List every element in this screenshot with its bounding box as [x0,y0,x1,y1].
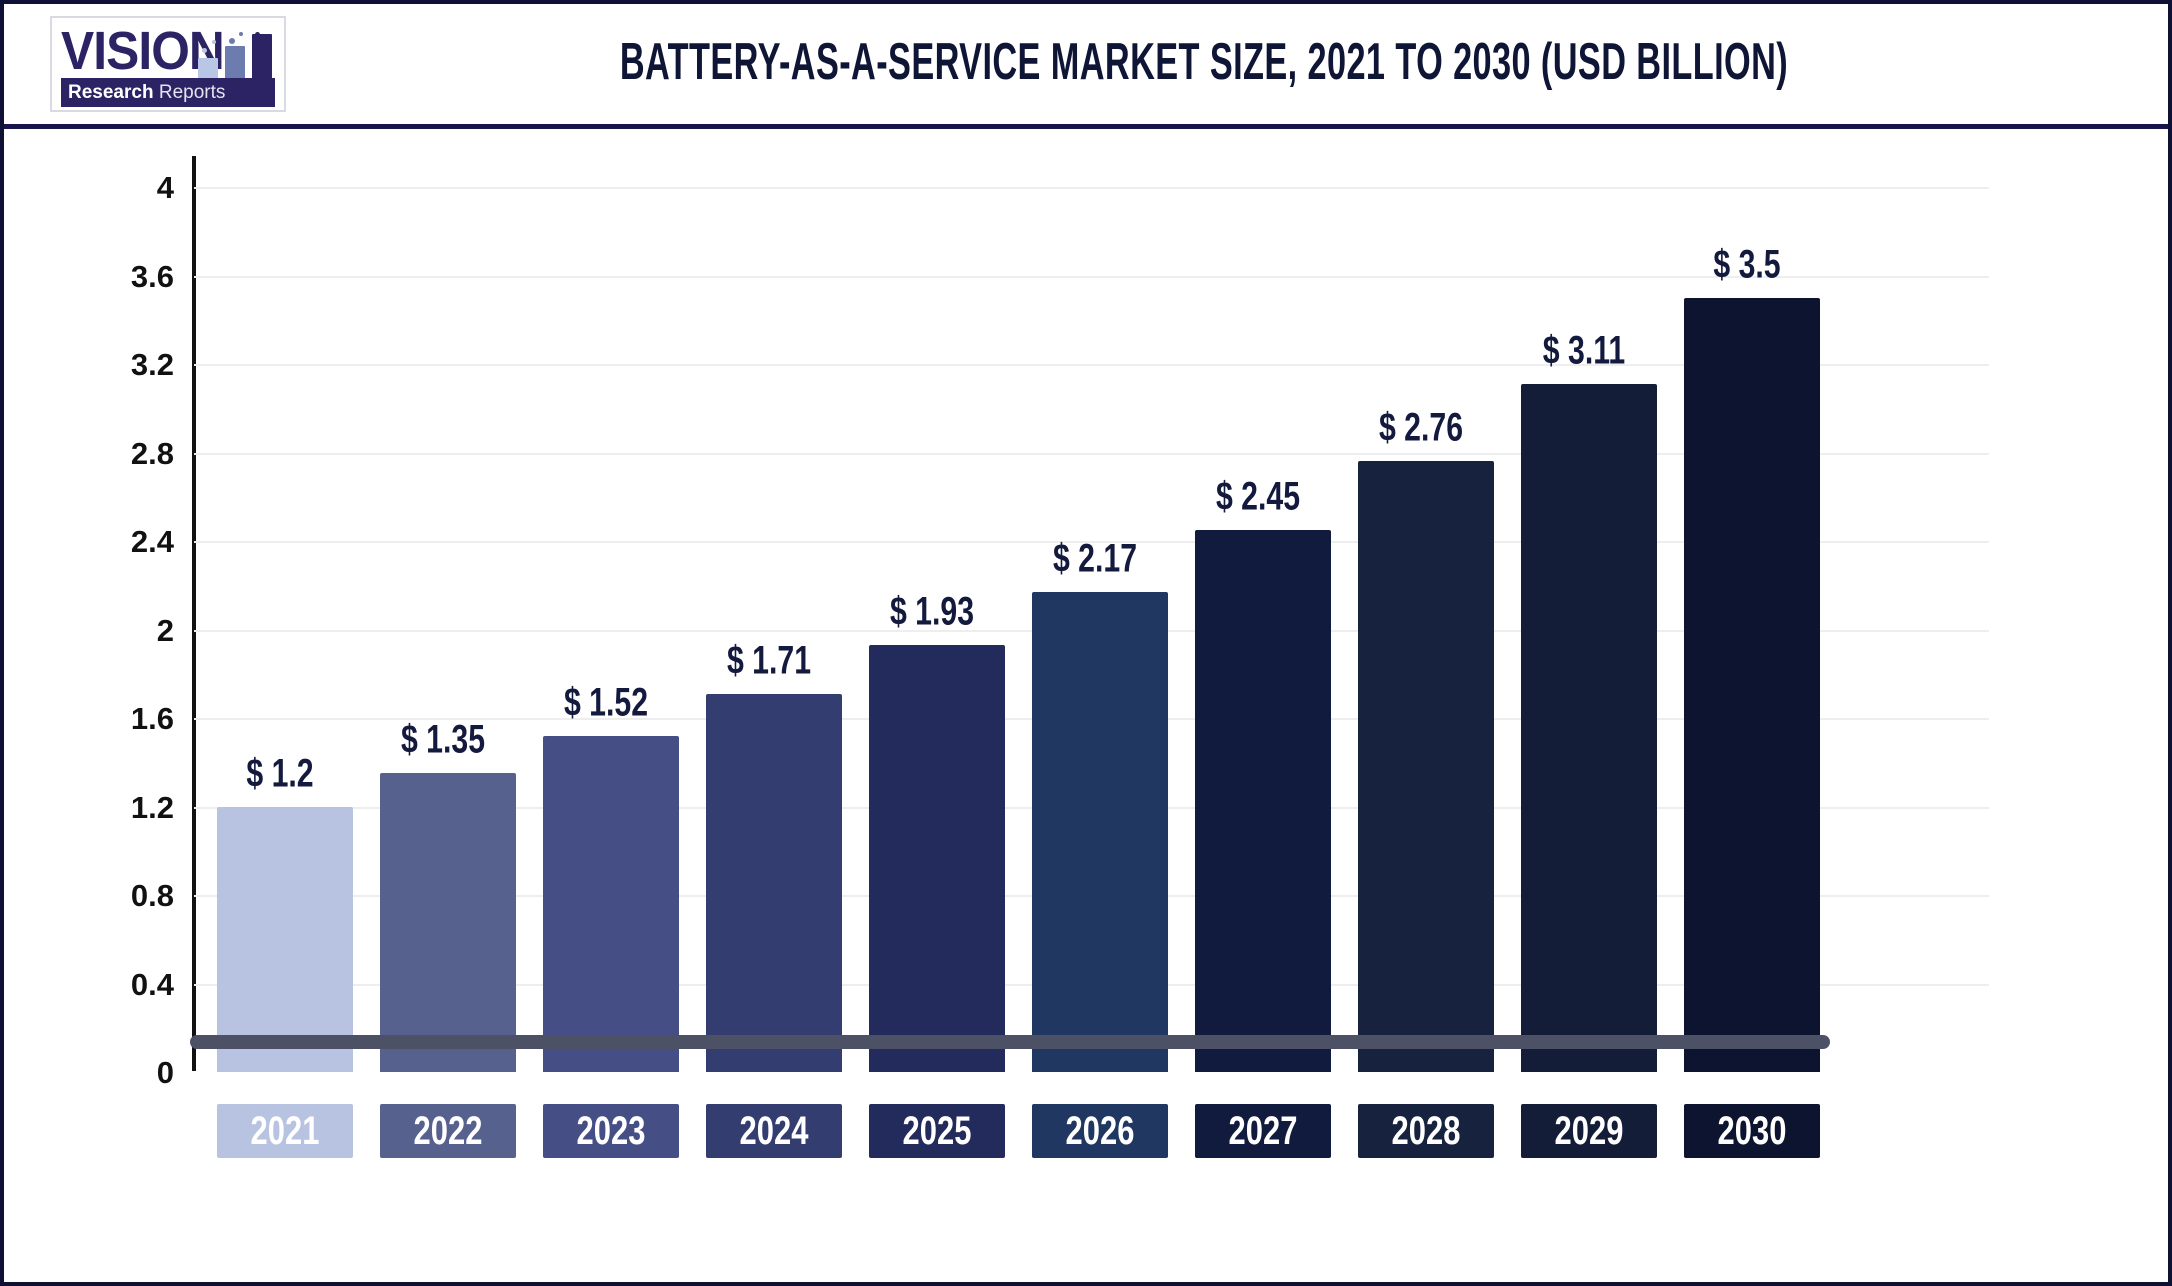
y-axis-tick-label: 0.8 [94,880,174,911]
logo-bars-icon [198,32,278,84]
y-axis-tick-label: 1.2 [94,792,174,823]
bar-slot: $ 2.45 [1190,159,1353,1072]
x-axis-category-label: 2025 [879,1101,996,1160]
x-axis-category-label: 2029 [1531,1101,1648,1160]
plot-area: $ 1.2$ 1.35$ 1.52$ 1.71$ 1.93$ 2.17$ 2.4… [194,159,1994,1072]
bar-value-label: $ 3.11 [1510,330,1658,370]
bar-value-label: $ 1.71 [695,640,843,680]
y-axis-tick-label: 3.6 [94,261,174,292]
x-axis-category-chip[interactable]: 2024 [706,1104,842,1158]
bar-value-label: $ 1.52 [532,682,680,722]
x-axis-category-label: 2027 [1205,1101,1322,1160]
y-axis-tick-label: 1.6 [94,703,174,734]
bar-slot: $ 1.52 [538,159,701,1072]
x-axis-category-chip[interactable]: 2023 [543,1104,679,1158]
bar[interactable] [1358,461,1494,1072]
x-axis-category-label: 2022 [390,1101,507,1160]
bar[interactable] [1195,530,1331,1072]
bar-value-label: $ 1.2 [206,753,354,793]
bar-series: $ 1.2$ 1.35$ 1.52$ 1.71$ 1.93$ 2.17$ 2.4… [194,159,1994,1072]
brand-logo: VISION Research Reports [50,16,286,112]
bar-slot: $ 1.35 [375,159,538,1072]
x-axis-category-chip[interactable]: 2029 [1521,1104,1657,1158]
x-axis-category-label: 2021 [227,1101,344,1160]
y-axis-tick-label: 4 [94,172,174,203]
logo-banner-bold: Research [68,82,154,103]
bar-value-label: $ 2.76 [1347,408,1495,448]
x-axis-category-chip[interactable]: 2025 [869,1104,1005,1158]
bar-value-label: $ 1.93 [858,591,1006,631]
x-axis-category-label: 2024 [716,1101,833,1160]
bar-slot: $ 3.11 [1516,159,1679,1072]
bar-value-label: $ 2.45 [1184,476,1332,516]
bar[interactable] [217,807,353,1073]
y-axis-tick-label: 0 [94,1057,174,1088]
bar-slot: $ 2.17 [1027,159,1190,1072]
bar[interactable] [1032,592,1168,1072]
y-axis-tick-label: 2.8 [94,438,174,469]
bar-slot: $ 1.93 [864,159,1027,1072]
bar-slot: $ 2.76 [1353,159,1516,1072]
x-axis-baseline [190,1035,1830,1049]
bar-chart: 00.40.81.21.622.42.83.23.64 $ 1.2$ 1.35$… [4,129,2168,1282]
y-axis-tick-label: 2 [94,615,174,646]
bar-value-label: $ 2.17 [1021,538,1169,578]
y-axis-tick-label: 2.4 [94,526,174,557]
bar[interactable] [1521,384,1657,1072]
bar[interactable] [1684,298,1820,1072]
bar[interactable] [380,773,516,1072]
x-axis-category-chip[interactable]: 2021 [217,1104,353,1158]
logo-banner: Research Reports [61,78,275,107]
bar-slot: $ 1.2 [212,159,375,1072]
chart-page: VISION Research Reports BATTERY-AS-A-S [0,0,2172,1286]
logo-banner-text: Research Reports [68,82,225,103]
y-axis-tick-label: 0.4 [94,969,174,1000]
x-axis-category-label: 2023 [553,1101,670,1160]
x-axis-category-label: 2030 [1694,1101,1811,1160]
x-axis-category-chip[interactable]: 2027 [1195,1104,1331,1158]
x-axis-category-chips: 2021202220232024202520262027202820292030 [194,1104,1994,1164]
x-axis-category-label: 2026 [1042,1101,1159,1160]
x-axis-category-chip[interactable]: 2026 [1032,1104,1168,1158]
logo-banner-light: Reports [154,82,226,103]
bar-value-label: $ 3.5 [1673,244,1821,284]
bar-slot: $ 1.71 [701,159,864,1072]
y-axis-tick-label: 3.2 [94,349,174,380]
bar[interactable] [706,694,842,1072]
bar-value-label: $ 1.35 [369,720,517,760]
x-axis-category-chip[interactable]: 2028 [1358,1104,1494,1158]
y-axis-tick-labels: 00.40.81.21.622.42.83.23.64 [94,159,174,1072]
x-axis-category-chip[interactable]: 2030 [1684,1104,1820,1158]
x-axis-category-chip[interactable]: 2022 [380,1104,516,1158]
page-title: BATTERY-AS-A-SERVICE MARKET SIZE, 2021 T… [502,34,1906,91]
bar[interactable] [543,736,679,1072]
bar-slot: $ 3.5 [1679,159,1842,1072]
page-header: VISION Research Reports BATTERY-AS-A-S [4,4,2168,129]
x-axis-category-label: 2028 [1368,1101,1485,1160]
bar[interactable] [869,645,1005,1072]
